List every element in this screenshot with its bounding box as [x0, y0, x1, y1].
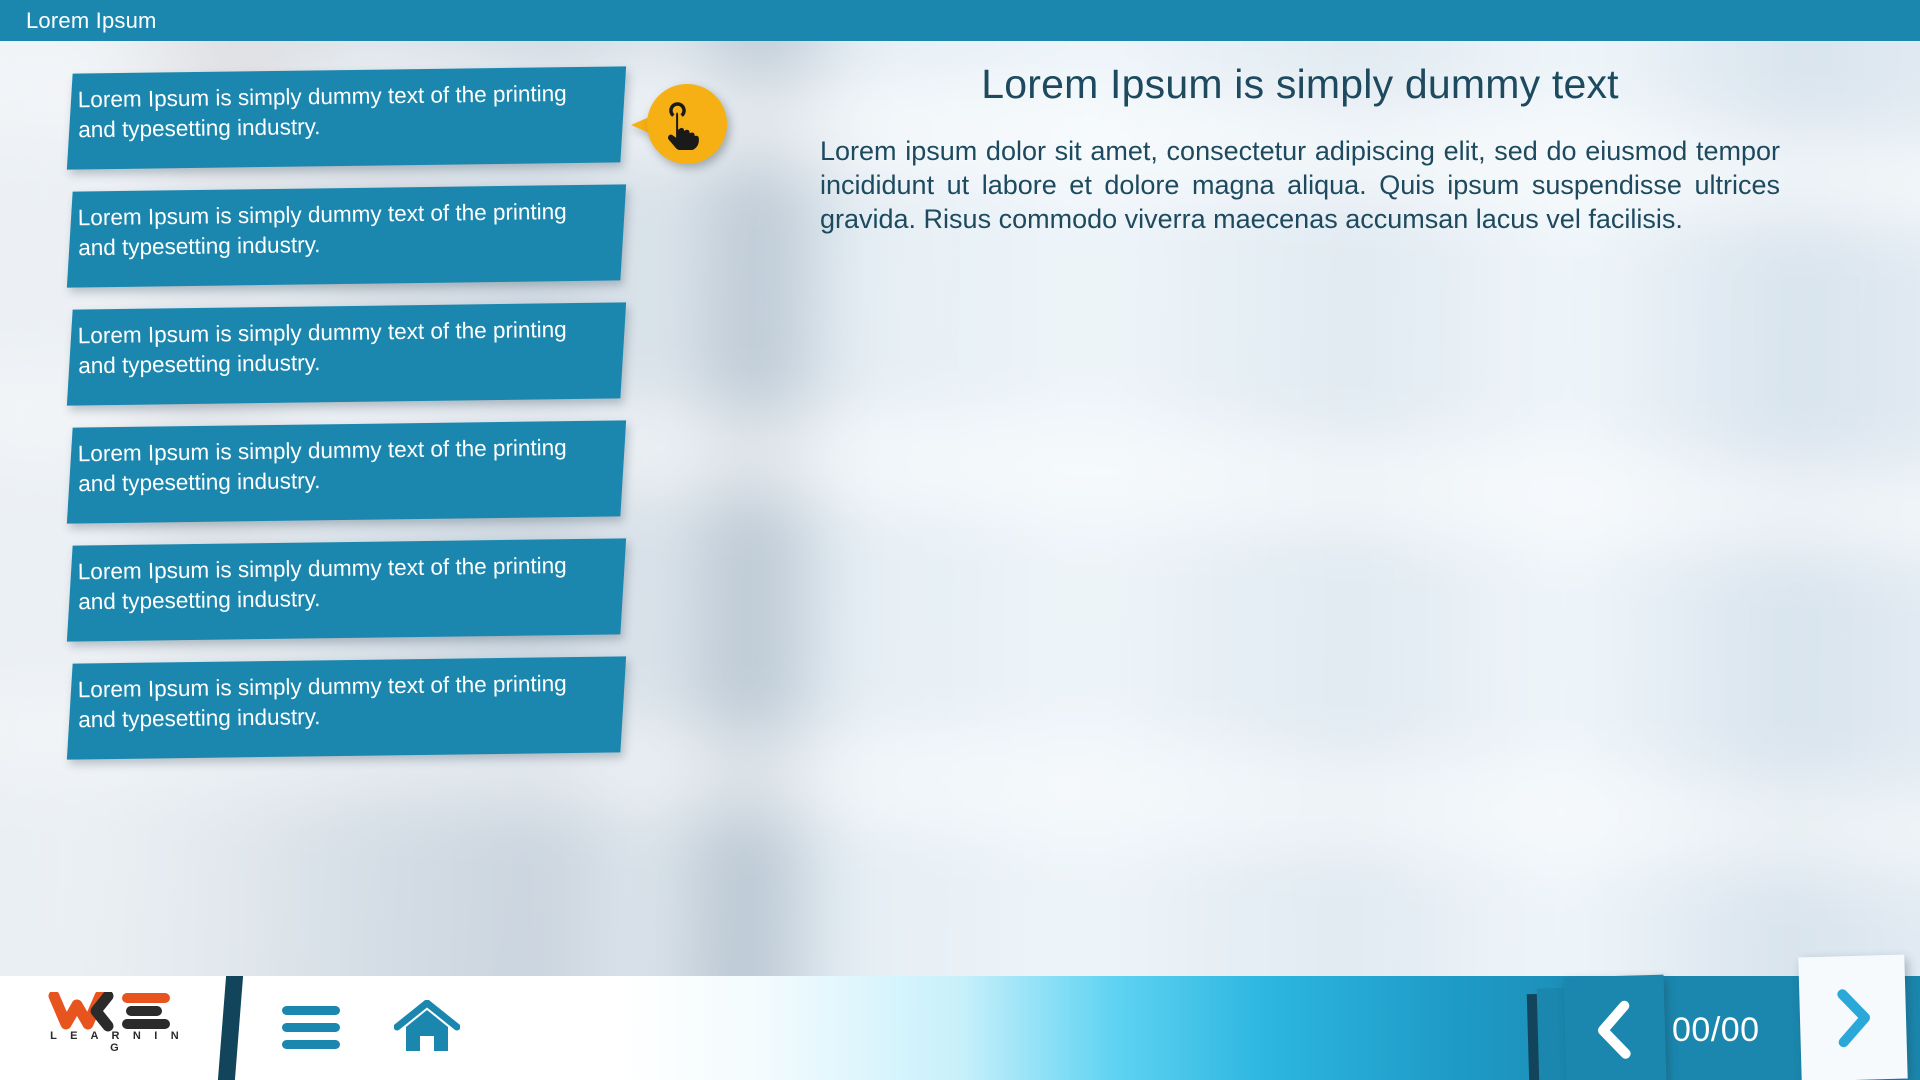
- menu-bar-2: [282, 1023, 340, 1032]
- chevron-right-icon: [1828, 987, 1878, 1048]
- list-item: Lorem Ipsum is simply dummy text of the …: [0, 60, 660, 178]
- header-bar: Lorem Ipsum: [0, 0, 1920, 41]
- chevron-left-icon: [1590, 999, 1640, 1060]
- logo-wordmark: L E A R N I N G: [46, 1030, 188, 1054]
- we-learning-logo: L E A R N I N G: [46, 992, 188, 1064]
- list-item: Lorem Ipsum is simply dummy text of the …: [0, 414, 660, 532]
- list-item: Lorem Ipsum is simply dummy text of the …: [0, 178, 660, 296]
- choice-button-4[interactable]: [67, 420, 626, 523]
- content-pane: Lorem Ipsum is simply dummy text Lorem i…: [820, 60, 1780, 236]
- choice-button-2[interactable]: [67, 184, 626, 287]
- we-logo-icon: [46, 992, 188, 1032]
- footer-bar: L E A R N I N G 00/00: [0, 976, 1920, 1080]
- home-icon[interactable]: [394, 1000, 460, 1054]
- page-counter: 00/00: [1672, 1011, 1802, 1050]
- tap-hand-icon: [663, 100, 707, 150]
- choice-button-1[interactable]: [67, 66, 626, 169]
- choice-list: Lorem Ipsum is simply dummy text of the …: [0, 60, 660, 768]
- choice-button-6[interactable]: [67, 656, 626, 759]
- prev-button[interactable]: [1564, 975, 1667, 1080]
- choice-button-3[interactable]: [67, 302, 626, 405]
- hamburger-menu-icon[interactable]: [282, 1006, 340, 1050]
- content-title: Lorem Ipsum is simply dummy text: [820, 60, 1780, 108]
- content-body: Lorem ipsum dolor sit amet, consectetur …: [820, 134, 1780, 236]
- next-button[interactable]: [1798, 955, 1907, 1080]
- choice-button-5[interactable]: [67, 538, 626, 641]
- list-item: Lorem Ipsum is simply dummy text of the …: [0, 650, 660, 768]
- list-item: Lorem Ipsum is simply dummy text of the …: [0, 532, 660, 650]
- page-title: Lorem Ipsum: [26, 10, 157, 32]
- slide-stage: Lorem Ipsum Lorem Ipsum is simply dummy …: [0, 0, 1920, 1080]
- tap-hint-bubble: [631, 84, 727, 180]
- menu-bar-1: [282, 1006, 340, 1015]
- menu-bar-3: [282, 1040, 340, 1049]
- list-item: Lorem Ipsum is simply dummy text of the …: [0, 296, 660, 414]
